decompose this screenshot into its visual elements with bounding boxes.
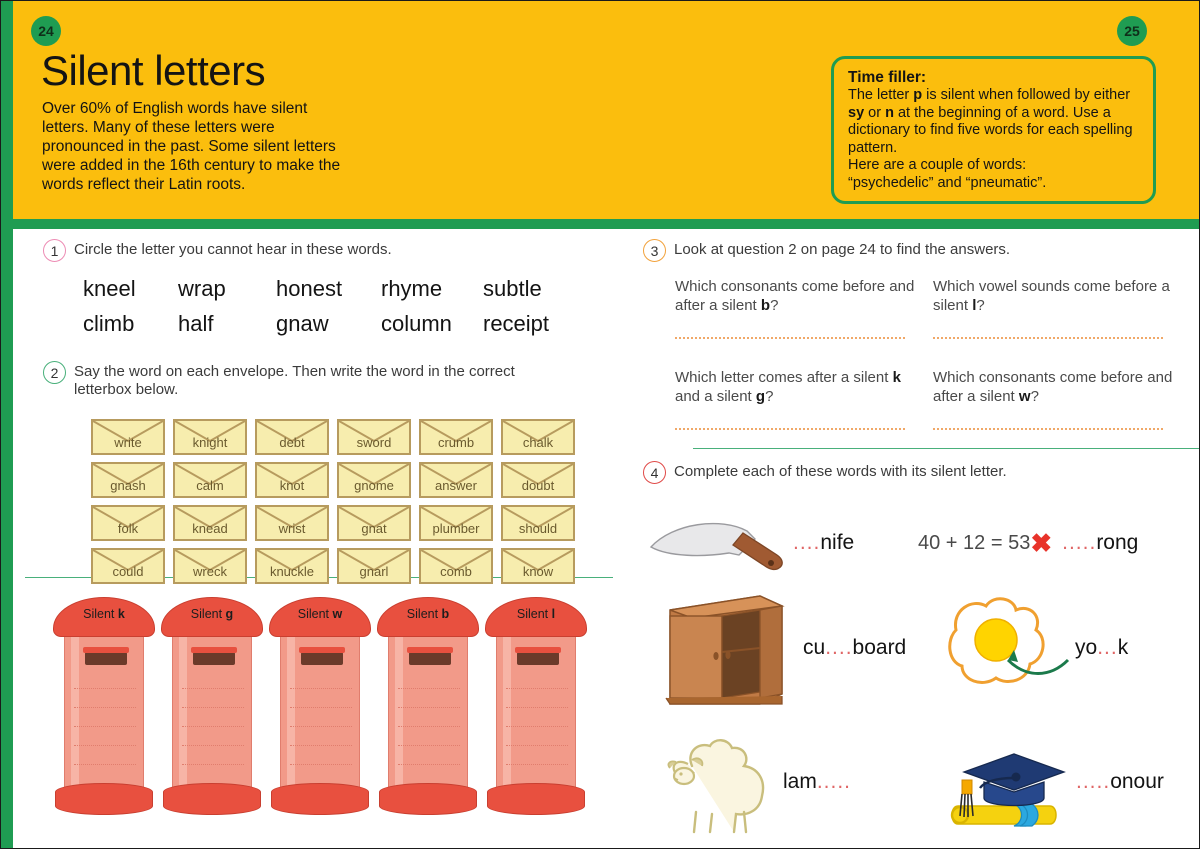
q4-word-cupboard[interactable]: cu....board <box>803 636 906 660</box>
exercise-3-instruction: Look at question 2 on page 24 to find th… <box>674 239 1010 259</box>
q3-answer-line[interactable] <box>675 337 905 339</box>
q3-subquestion: Which consonants come before and after a… <box>933 369 1173 430</box>
envelope[interactable]: gnat <box>337 505 411 541</box>
envelope-word: gnat <box>361 521 386 539</box>
envelope[interactable]: know <box>501 548 575 584</box>
envelope-word: should <box>519 521 557 539</box>
tf-bold-p: p <box>913 87 922 103</box>
letterbox-slot-icon <box>85 652 127 665</box>
envelope[interactable]: knead <box>173 505 247 541</box>
q3-subquestion-text: Which letter comes after a silent k and … <box>675 369 915 406</box>
q4-item-yolk: yo...k <box>918 584 1183 712</box>
letterbox[interactable]: Silent k <box>53 597 155 817</box>
letterbox-answer-lines[interactable] <box>398 688 460 783</box>
letterbox-body <box>280 625 360 793</box>
q1-word[interactable]: half <box>178 311 276 337</box>
q3-subquestion-text: Which vowel sounds come before a silent … <box>933 278 1173 315</box>
exercise-1-header: 1 Circle the letter you cannot hear in t… <box>43 239 588 262</box>
q4-word-wrong[interactable]: .....rong <box>1062 531 1138 555</box>
cupboard-icon <box>643 588 803 708</box>
q3-answer-line[interactable] <box>675 428 905 430</box>
q4-item-honour: .....onour <box>918 718 1183 846</box>
envelope[interactable]: answer <box>419 462 493 498</box>
exercise-4-instruction: Complete each of these words with its si… <box>674 461 1007 481</box>
q4-item-cupboard: cu....board <box>643 584 918 712</box>
envelope[interactable]: chalk <box>501 419 575 455</box>
q4-math-expression: 40 + 12 = 53 <box>918 532 1030 555</box>
q2-letterbox-row: Silent kSilent gSilent wSilent bSilent l <box>53 597 587 817</box>
page-intro-text: Over 60% of English words have silent le… <box>42 99 342 194</box>
q4-item-knife: ....nife <box>643 508 918 578</box>
letterbox-label: Silent k <box>83 607 125 621</box>
time-filler-box: Time filler: The letter p is silent when… <box>831 56 1156 204</box>
question-number-2: 2 <box>43 361 66 384</box>
letterbox-cap: Silent k <box>53 597 155 637</box>
envelope[interactable]: gnarl <box>337 548 411 584</box>
envelope-word: wrist <box>279 521 306 539</box>
envelope[interactable]: folk <box>91 505 165 541</box>
worksheet-page: 24 25 Silent letters Over 60% of English… <box>0 0 1200 849</box>
exercise-2: 2 Say the word on each envelope. Then wr… <box>43 361 588 584</box>
envelope[interactable]: should <box>501 505 575 541</box>
q1-word[interactable]: gnaw <box>276 311 381 337</box>
letterbox-base <box>271 783 369 815</box>
letterbox-base <box>379 783 477 815</box>
letterbox-answer-lines[interactable] <box>74 688 136 783</box>
q3-subquestion: Which consonants come before and after a… <box>675 278 915 339</box>
question-number-1: 1 <box>43 239 66 262</box>
letterbox-cap: Silent l <box>485 597 587 637</box>
graduation-cap-icon <box>918 722 1088 842</box>
envelope-word: wreck <box>193 564 227 582</box>
envelope-word: answer <box>435 478 477 496</box>
envelope[interactable]: doubt <box>501 462 575 498</box>
q1-word-grid: kneel wrap honest rhyme subtle climb hal… <box>43 276 588 337</box>
letterbox-base <box>55 783 153 815</box>
exercise-2-instruction: Say the word on each envelope. Then writ… <box>74 361 544 399</box>
envelope-word: folk <box>118 521 138 539</box>
tf-line3: “psychedelic” and “pneumatic”. <box>848 175 1139 193</box>
envelope-word: debt <box>279 435 304 453</box>
letterbox-slot-icon <box>409 652 451 665</box>
q1-word[interactable]: receipt <box>483 311 578 337</box>
letterbox-answer-lines[interactable] <box>290 688 352 783</box>
envelope-word: knuckle <box>270 564 314 582</box>
tf-bold-n: n <box>885 105 894 121</box>
header-green-divider <box>13 219 1200 229</box>
envelope-word: chalk <box>523 435 553 453</box>
letterbox-base <box>487 783 585 815</box>
q1-word[interactable]: subtle <box>483 276 578 302</box>
letterbox-body <box>64 625 144 793</box>
letterbox-body <box>172 625 252 793</box>
page-left-edge-strip <box>1 1 13 848</box>
envelope-word: write <box>114 435 141 453</box>
letterbox-slot-icon <box>517 652 559 665</box>
letterbox-base <box>163 783 261 815</box>
envelope[interactable]: comb <box>419 548 493 584</box>
q3-answer-line[interactable] <box>933 428 1163 430</box>
page-number-badge-right: 25 <box>1117 16 1147 46</box>
exercise-1: 1 Circle the letter you cannot hear in t… <box>43 239 588 346</box>
envelope-word: knot <box>280 478 305 496</box>
tf-line2: Here are a couple of words: <box>848 157 1139 175</box>
envelope[interactable]: debt <box>255 419 329 455</box>
page-title: Silent letters <box>41 47 265 95</box>
envelope-word: knight <box>193 435 228 453</box>
q1-word[interactable]: rhyme <box>381 276 483 302</box>
envelope[interactable]: calm <box>173 462 247 498</box>
letterbox[interactable]: Silent l <box>485 597 587 817</box>
letterbox[interactable]: Silent b <box>377 597 479 817</box>
lamb-icon <box>643 722 803 842</box>
q4-item-lamb: lam..... <box>643 718 918 846</box>
envelope-word: know <box>523 564 553 582</box>
envelope[interactable]: knight <box>173 419 247 455</box>
envelope-word: plumber <box>433 521 480 539</box>
tf-line1a: The letter <box>848 87 913 103</box>
exercise-4-header: 4 Complete each of these words with its … <box>643 461 1183 484</box>
tf-line1c: is silent when followed by either <box>922 87 1130 103</box>
q3-subquestion-grid: Which consonants come before and after a… <box>675 278 1183 430</box>
letterbox-label: Silent l <box>517 607 555 621</box>
envelope-word: crumb <box>438 435 474 453</box>
envelope-word: calm <box>196 478 223 496</box>
envelope-word: doubt <box>522 478 555 496</box>
envelope-word: sword <box>357 435 392 453</box>
q4-word-honour[interactable]: .....onour <box>1076 770 1164 794</box>
q4-item-grid: ....nife 40 + 12 = 53 ✖ .....rong <box>643 508 1183 846</box>
q1-word[interactable]: column <box>381 311 483 337</box>
q4-word-knife[interactable]: ....nife <box>793 531 854 555</box>
q3-subquestion: Which vowel sounds come before a silent … <box>933 278 1173 339</box>
envelope[interactable]: knuckle <box>255 548 329 584</box>
envelope-word: comb <box>440 564 472 582</box>
exercise-3-header: 3 Look at question 2 on page 24 to find … <box>643 239 1183 262</box>
red-cross-icon: ✖ <box>1030 528 1052 559</box>
knife-icon <box>643 513 793 573</box>
letterbox[interactable]: Silent w <box>269 597 371 817</box>
letterbox-label: Silent b <box>407 607 449 621</box>
q2-envelope-grid: writeknightdebtswordcrumbchalkgnashcalmk… <box>91 419 588 584</box>
right-column: 3 Look at question 2 on page 24 to find … <box>613 229 1200 849</box>
envelope-word: gnarl <box>360 564 389 582</box>
letterbox-label: Silent g <box>191 607 233 621</box>
letterbox-cap: Silent b <box>377 597 479 637</box>
envelope[interactable]: gnome <box>337 462 411 498</box>
q1-word-row: kneel wrap honest rhyme subtle <box>43 276 588 302</box>
exercise-divider-3 <box>693 448 1200 449</box>
fried-egg-icon <box>918 588 1093 708</box>
letterbox-label: Silent w <box>298 607 342 621</box>
q4-item-wrong: 40 + 12 = 53 ✖ .....rong <box>918 508 1183 578</box>
envelope-word: could <box>112 564 143 582</box>
q1-word[interactable]: wrap <box>178 276 276 302</box>
envelope-word: gnash <box>110 478 145 496</box>
tf-line1e: or <box>864 105 885 121</box>
time-filler-body: The letter p is silent when followed by … <box>848 87 1139 192</box>
letterbox-slot-icon <box>193 652 235 665</box>
question-number-3: 3 <box>643 239 666 262</box>
q3-subquestion-text: Which consonants come before and after a… <box>933 369 1173 406</box>
letterbox-cap: Silent g <box>161 597 263 637</box>
envelope-word: knead <box>192 521 227 539</box>
time-filler-title: Time filler: <box>848 69 1139 87</box>
exercise-3: 3 Look at question 2 on page 24 to find … <box>643 239 1183 430</box>
envelope[interactable]: plumber <box>419 505 493 541</box>
exercise-4: 4 Complete each of these words with its … <box>643 461 1183 846</box>
exercise-1-instruction: Circle the letter you cannot hear in the… <box>74 239 392 259</box>
envelope[interactable]: write <box>91 419 165 455</box>
left-column: 1 Circle the letter you cannot hear in t… <box>13 229 601 849</box>
page-number-badge-left: 24 <box>31 16 61 46</box>
envelope[interactable]: sword <box>337 419 411 455</box>
q3-subquestion-text: Which consonants come before and after a… <box>675 278 915 315</box>
q3-answer-line[interactable] <box>933 337 1163 339</box>
q1-word[interactable]: climb <box>83 311 178 337</box>
envelope-word: gnome <box>354 478 394 496</box>
letterbox-cap: Silent w <box>269 597 371 637</box>
letterbox-slot-icon <box>301 652 343 665</box>
envelope[interactable]: gnash <box>91 462 165 498</box>
letterbox-body <box>388 625 468 793</box>
envelope[interactable]: wrist <box>255 505 329 541</box>
letterbox-body <box>496 625 576 793</box>
letterbox-answer-lines[interactable] <box>506 688 568 783</box>
envelope[interactable]: wreck <box>173 548 247 584</box>
envelope[interactable]: knot <box>255 462 329 498</box>
letterbox[interactable]: Silent g <box>161 597 263 817</box>
question-number-4: 4 <box>643 461 666 484</box>
envelope[interactable]: could <box>91 548 165 584</box>
q1-word-row: climb half gnaw column receipt <box>43 311 588 337</box>
q1-word[interactable]: honest <box>276 276 381 302</box>
q1-word[interactable]: kneel <box>83 276 178 302</box>
q3-subquestion: Which letter comes after a silent k and … <box>675 369 915 430</box>
exercise-2-header: 2 Say the word on each envelope. Then wr… <box>43 361 588 399</box>
envelope[interactable]: crumb <box>419 419 493 455</box>
tf-bold-sy: sy <box>848 105 864 121</box>
letterbox-answer-lines[interactable] <box>182 688 244 783</box>
